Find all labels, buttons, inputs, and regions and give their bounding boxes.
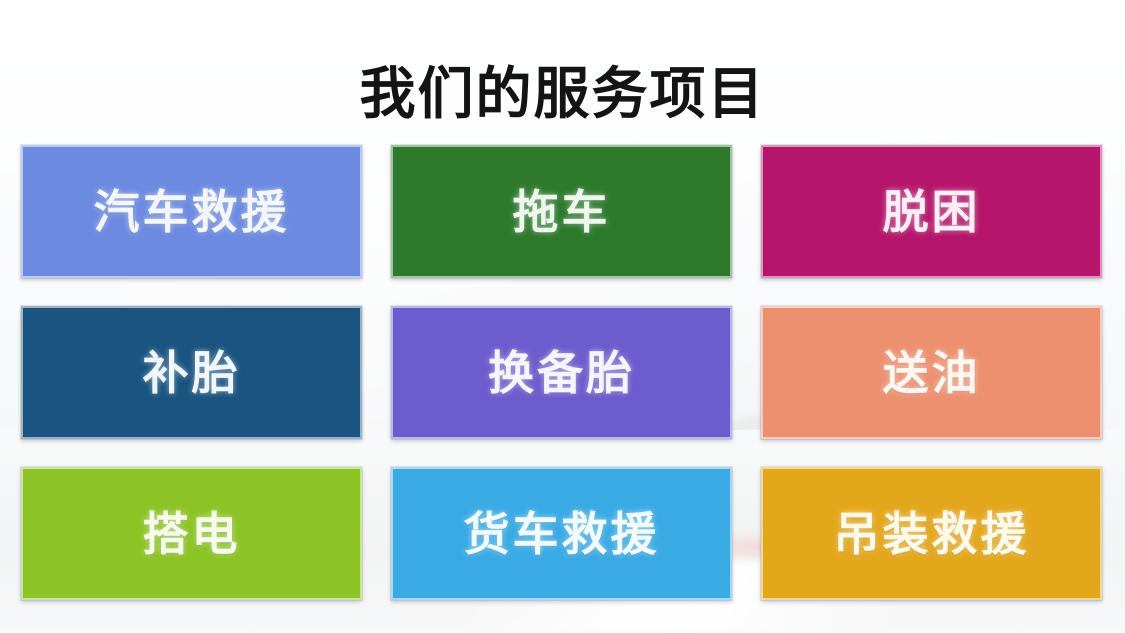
service-tile-label: 换备胎 xyxy=(488,350,635,396)
service-tile-label: 搭电 xyxy=(143,511,241,557)
service-tile-label: 拖车 xyxy=(513,189,611,235)
service-list-page: 我们的服务项目 汽车救援 拖车 脱困 补胎 换备胎 送油 搭电 xyxy=(0,0,1125,633)
page-title: 我们的服务项目 xyxy=(0,60,1125,130)
service-tile-car-rescue[interactable]: 汽车救援 xyxy=(21,145,362,278)
service-tile-extrication[interactable]: 脱困 xyxy=(761,145,1102,278)
page-content: 我们的服务项目 汽车救援 拖车 脱困 补胎 换备胎 送油 搭电 xyxy=(0,0,1125,633)
service-tile-grid: 汽车救援 拖车 脱困 补胎 换备胎 送油 搭电 货车救援 xyxy=(21,145,1103,601)
service-tile-label: 货车救援 xyxy=(464,511,660,557)
service-tile-towing[interactable]: 拖车 xyxy=(391,145,732,278)
service-tile-crane-hoisting-rescue[interactable]: 吊装救援 xyxy=(761,467,1102,600)
service-tile-fuel-delivery[interactable]: 送油 xyxy=(761,306,1102,439)
service-tile-label: 送油 xyxy=(883,350,981,396)
service-tile-label: 补胎 xyxy=(143,350,241,396)
service-tile-tire-repair[interactable]: 补胎 xyxy=(21,306,362,439)
service-tile-jump-start[interactable]: 搭电 xyxy=(21,467,362,600)
service-tile-spare-tire-change[interactable]: 换备胎 xyxy=(391,306,732,439)
service-tile-label: 汽车救援 xyxy=(94,189,290,235)
service-tile-label: 脱困 xyxy=(883,189,981,235)
service-tile-truck-rescue[interactable]: 货车救援 xyxy=(391,467,732,600)
service-tile-label: 吊装救援 xyxy=(834,511,1030,557)
